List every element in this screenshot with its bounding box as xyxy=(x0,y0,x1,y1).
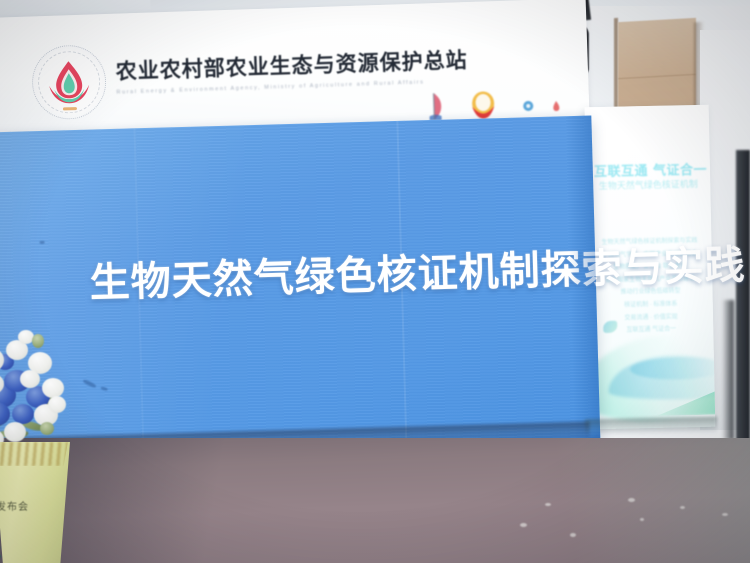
wood-panel-seam xyxy=(618,74,696,79)
partner-logo-3 xyxy=(521,99,535,113)
screen-scuff-mark xyxy=(100,386,108,391)
vase-label: 发布会 xyxy=(0,498,56,513)
floor-speck xyxy=(570,533,576,537)
floor-speck xyxy=(628,498,635,502)
flower-arrangement: 发布会 气 xyxy=(0,330,90,563)
led-display-screen: 生物天然气绿色核证机制探索与实践 xyxy=(0,116,600,463)
screen-scuff-mark xyxy=(40,241,45,244)
floor-light-reflection-right xyxy=(490,438,750,563)
green-bud xyxy=(40,422,54,435)
poster-subline: 生物天然气绿色核证机制 xyxy=(594,177,702,192)
floor-speck xyxy=(722,513,728,516)
carpet-floor xyxy=(0,438,750,563)
floor-speck xyxy=(520,523,527,527)
floor-speck xyxy=(680,506,685,509)
poster-base-shadow xyxy=(585,417,717,436)
floor-speck xyxy=(640,518,644,521)
white-rose xyxy=(42,378,64,398)
rural-energy-environment-agency-emblem xyxy=(31,44,107,120)
floor-speck xyxy=(545,503,551,506)
white-rose xyxy=(4,422,26,442)
doorway-dark-edge-secondary xyxy=(722,300,734,440)
conference-stage-photo: 农业农村部农业生态与资源保护总站 Rural Energy & Environm… xyxy=(0,0,750,563)
presentation-title: 生物天然气绿色核证机制探索与实践 xyxy=(89,248,570,305)
vase-gold-decoration xyxy=(0,442,68,466)
green-bud xyxy=(32,334,44,348)
partner-logo-4 xyxy=(551,100,561,112)
doorway-dark-edge xyxy=(736,150,750,450)
emblem-graphic xyxy=(31,44,107,120)
blue-hydrangea xyxy=(12,404,34,424)
vase-label-secondary: 气 xyxy=(0,542,44,561)
white-rose xyxy=(20,370,40,388)
white-rose xyxy=(48,396,66,413)
